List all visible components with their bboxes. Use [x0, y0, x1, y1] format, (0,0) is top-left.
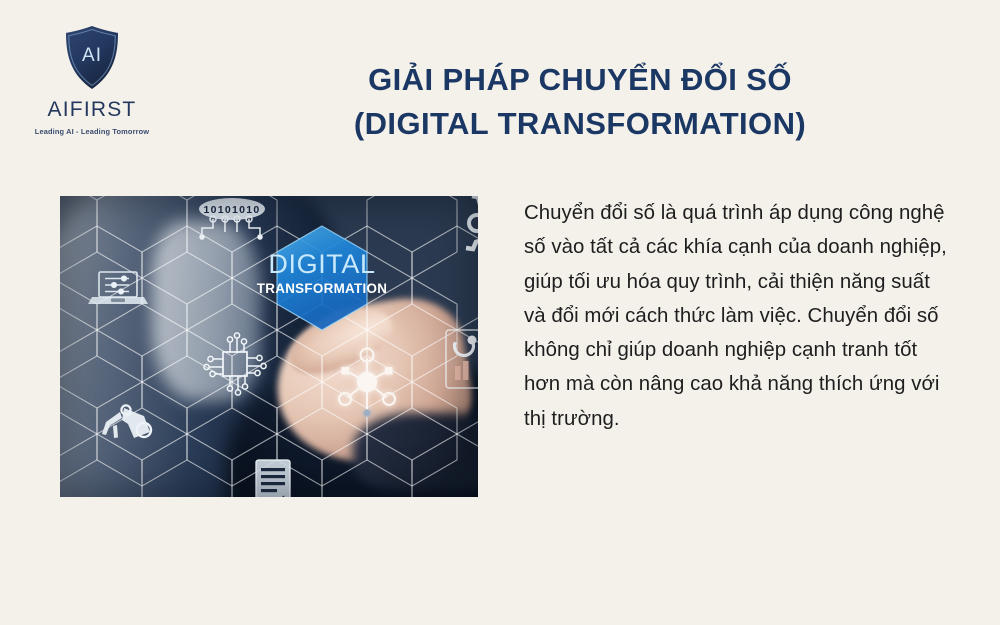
brand-logo: AI AIFIRST Leading AI - Leading Tomorrow — [22, 24, 162, 136]
hex-primary-label: DIGITAL — [268, 249, 375, 279]
hex-secondary-label: TRANSFORMATION — [257, 281, 387, 296]
shield-icon: AI — [62, 24, 122, 92]
brand-tagline: Leading AI - Leading Tomorrow — [22, 127, 162, 136]
shield-label: AI — [82, 45, 102, 66]
hex-label-group: DIGITAL TRANSFORMATION — [60, 196, 478, 497]
page-title: GIẢI PHÁP CHUYỂN ĐỔI SỐ (DIGITAL TRANSFO… — [180, 58, 980, 146]
hero-image: 10101010 — [60, 196, 478, 497]
body-paragraph: Chuyển đổi số là quá trình áp dụng công … — [524, 196, 948, 436]
page-title-line-2: (DIGITAL TRANSFORMATION) — [180, 102, 980, 146]
page-title-line-1: GIẢI PHÁP CHUYỂN ĐỔI SỐ — [180, 58, 980, 102]
brand-name: AIFIRST — [22, 98, 162, 122]
